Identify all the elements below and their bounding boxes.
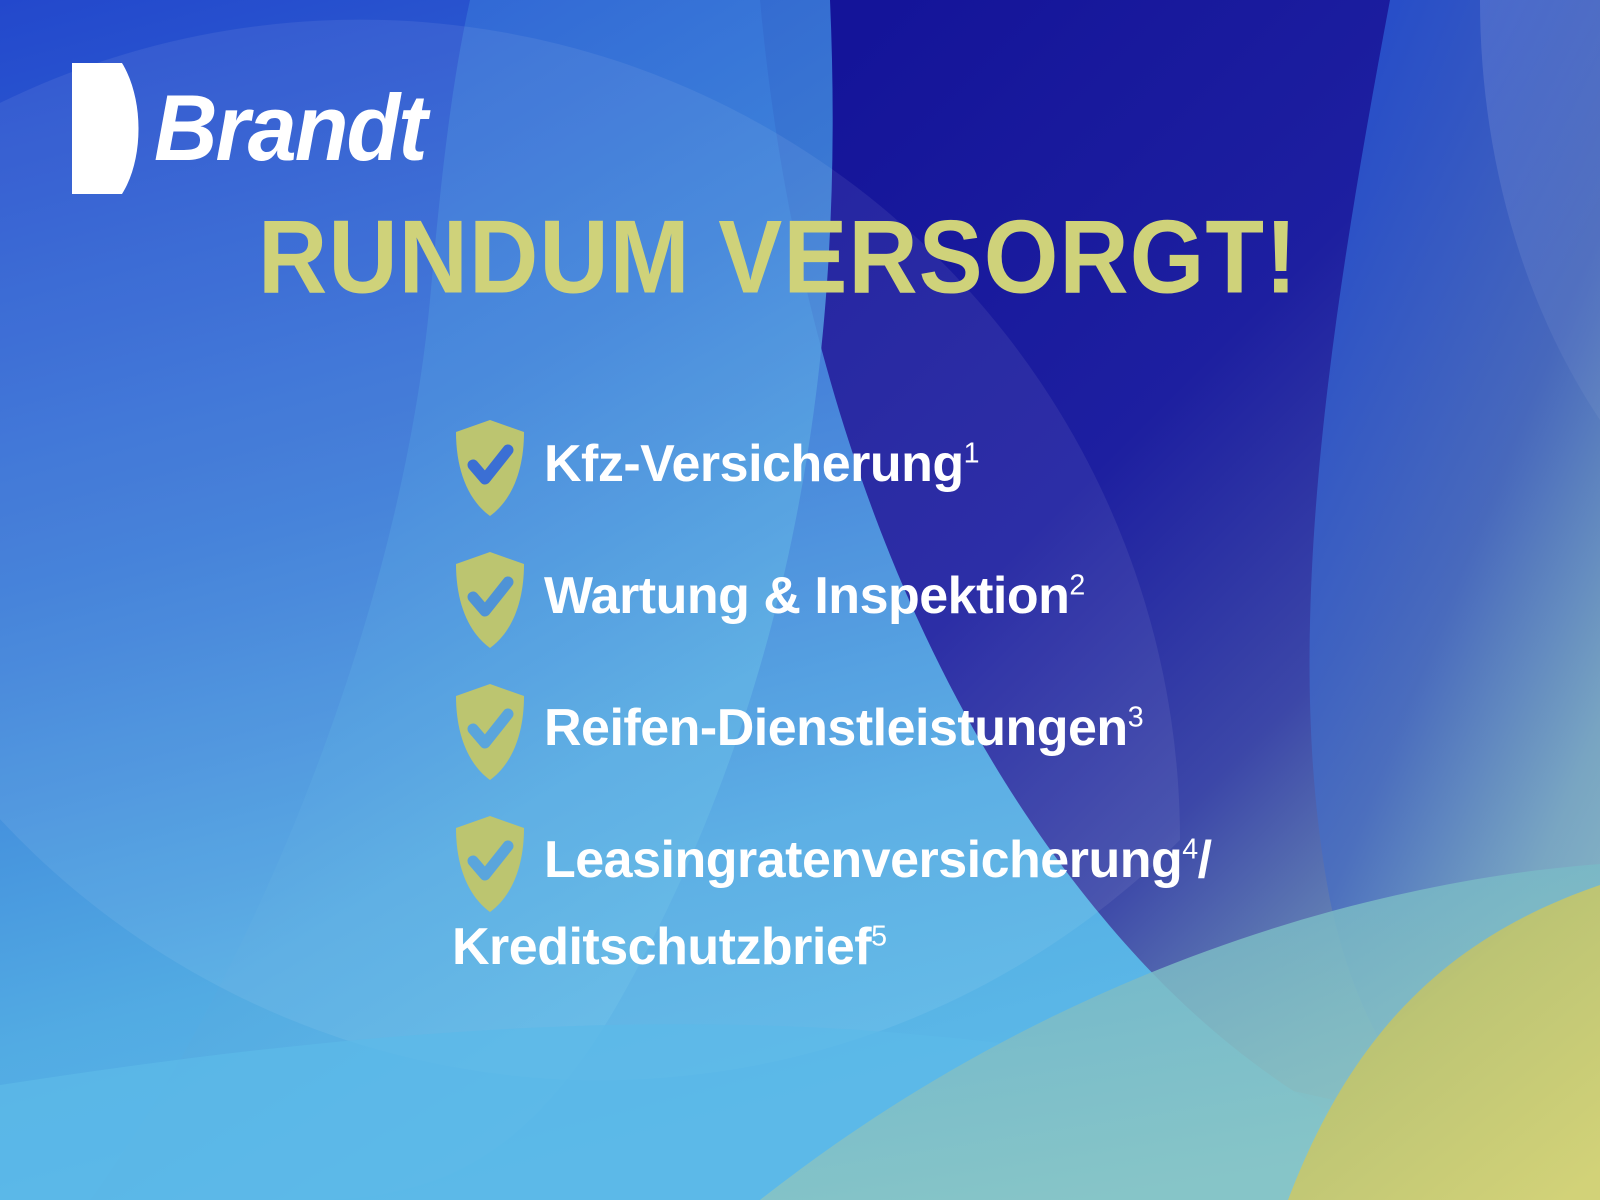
benefit-label: Kfz-Versicherung1 (544, 418, 979, 499)
benefit-label: Wartung & Inspektion2 (544, 550, 1085, 631)
benefit-footnote: 4 (1182, 834, 1197, 866)
list-item: Kfz-Versicherung1 (452, 418, 1452, 518)
benefit-separator: / (1198, 831, 1212, 889)
list-item: Leasingratenversicherung4/Kreditschutzbr… (452, 814, 1452, 981)
benefit-label-text: Reifen-Dienstleistungen (544, 699, 1128, 757)
page-title: RUNDUM VERSORGT! (258, 204, 1298, 313)
benefit-label-text: Leasingratenversicherung (544, 831, 1182, 889)
brand-wordmark: Brandt (154, 81, 426, 174)
list-item: Wartung & Inspektion2 (452, 550, 1452, 650)
benefit-footnote-2: 5 (871, 920, 886, 952)
benefit-footnote: 3 (1128, 702, 1143, 734)
benefit-footnote: 1 (964, 438, 979, 470)
benefit-label-line2: Kreditschutzbrief5 (452, 913, 1212, 982)
benefit-label: Leasingratenversicherung4/Kreditschutzbr… (452, 814, 1212, 981)
benefit-label-text-2: Kreditschutzbrief (452, 918, 871, 976)
shield-check-icon (452, 550, 528, 650)
benefit-label: Reifen-Dienstleistungen3 (544, 682, 1143, 763)
benefits-list: Kfz-Versicherung1 Wartung & Inspektion2 … (452, 418, 1452, 981)
poster-canvas: Brandt RUNDUM VERSORGT! Kfz-Versicherung… (0, 0, 1600, 1200)
shield-check-icon (452, 682, 528, 782)
benefit-label-text: Wartung & Inspektion (544, 567, 1069, 625)
brand-logo: Brandt (70, 58, 426, 198)
benefit-footnote: 2 (1069, 570, 1084, 602)
list-item: Reifen-Dienstleistungen3 (452, 682, 1452, 782)
benefit-label-text: Kfz-Versicherung (544, 435, 964, 493)
shield-check-icon (452, 418, 528, 518)
bracket-mark-icon (70, 61, 148, 196)
